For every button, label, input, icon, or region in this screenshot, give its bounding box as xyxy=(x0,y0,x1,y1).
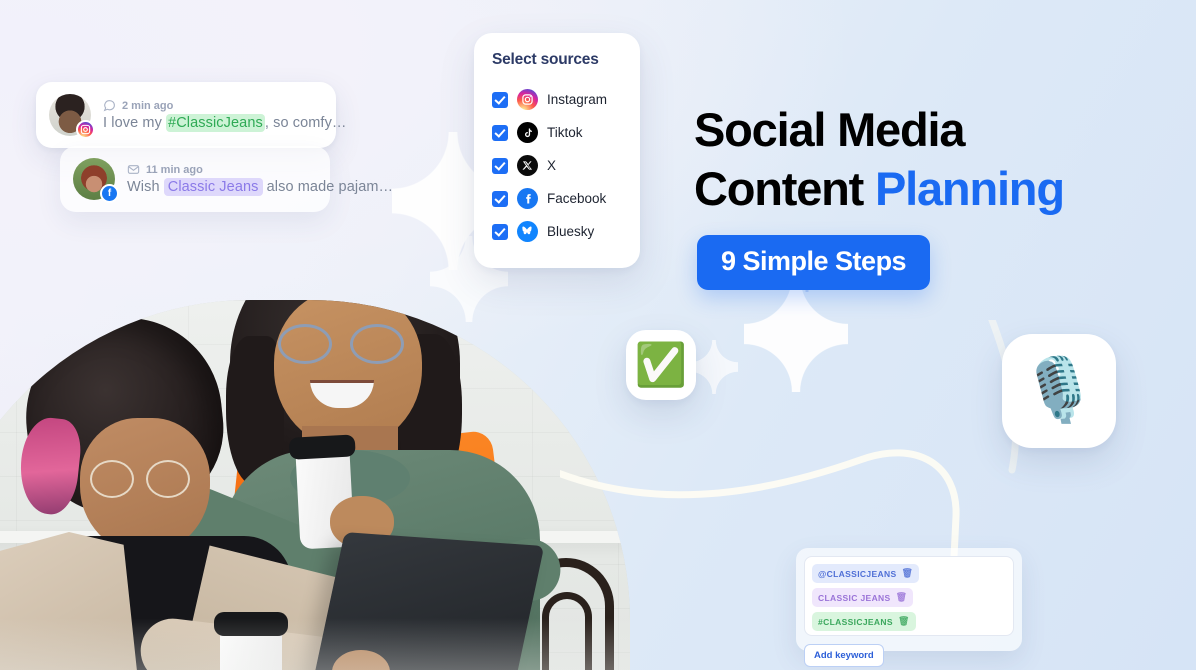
facebook-icon xyxy=(517,188,538,209)
source-label: Facebook xyxy=(547,191,606,206)
studio-microphone-emoji: 🎙️ xyxy=(1020,360,1097,422)
source-row-x[interactable]: X xyxy=(474,149,640,182)
bluesky-icon xyxy=(517,221,538,242)
select-sources-panel: Select sources Instagram Tiktok X xyxy=(474,33,640,268)
trash-icon[interactable]: 🗑 xyxy=(902,568,914,579)
hero-banner: 2 min ago I love my #ClassicJeans, so co… xyxy=(0,0,1196,670)
comment-meta: 2 min ago xyxy=(103,99,320,112)
source-row-tiktok[interactable]: Tiktok xyxy=(474,116,640,149)
keyword-label: #CLASSICJEANS xyxy=(818,617,893,627)
checkbox-bluesky[interactable] xyxy=(492,224,508,240)
source-row-facebook[interactable]: Facebook xyxy=(474,182,640,215)
comment-text: I love my #ClassicJeans, so comfy… xyxy=(103,115,320,131)
comment-card[interactable]: 2 min ago I love my #ClassicJeans, so co… xyxy=(36,82,336,148)
comment-timestamp: 2 min ago xyxy=(122,100,173,112)
x-icon xyxy=(517,155,538,176)
source-label: Instagram xyxy=(547,92,607,107)
title-line-1: Social Media xyxy=(694,100,1164,159)
comment-bubble-icon xyxy=(103,99,116,112)
keyword-label: @CLASSICJEANS xyxy=(818,569,897,579)
checkbox-tiktok[interactable] xyxy=(492,125,508,141)
page-title: Social Media Content Planning xyxy=(694,100,1164,218)
keyword-tag[interactable]: #CLASSICJEANS 🗑 xyxy=(812,612,916,631)
comment-card[interactable]: f 11 min ago Wish Classic Jeans also mad… xyxy=(60,146,330,212)
trash-icon[interactable]: 🗑 xyxy=(898,616,910,627)
instagram-icon xyxy=(517,89,538,110)
comment-highlight: #ClassicJeans xyxy=(166,114,265,132)
source-label: Tiktok xyxy=(547,125,583,140)
facebook-badge-icon: f xyxy=(100,184,119,203)
source-label: Bluesky xyxy=(547,224,594,239)
avatar xyxy=(49,94,91,136)
checkbox-x[interactable] xyxy=(492,158,508,174)
keyword-tag-list: @CLASSICJEANS 🗑 CLASSIC JEANS 🗑 #CLASSIC… xyxy=(804,556,1014,636)
checkbox-facebook[interactable] xyxy=(492,191,508,207)
comment-text: Wish Classic Jeans also made pajam… xyxy=(127,179,314,195)
white-heavy-check-mark-emoji: ✅ xyxy=(635,344,687,386)
keyword-label: CLASSIC JEANS xyxy=(818,593,891,603)
check-icon-card: ✅ xyxy=(626,330,696,400)
source-label: X xyxy=(547,158,556,173)
instagram-badge-icon xyxy=(76,120,95,139)
trash-icon[interactable]: 🗑 xyxy=(896,592,908,603)
title-line-2-black: Content xyxy=(694,162,875,215)
title-line-2-accent: Planning xyxy=(875,162,1064,215)
comment-timestamp: 11 min ago xyxy=(146,164,203,176)
microphone-icon-card: 🎙️ xyxy=(1002,334,1116,448)
envelope-icon xyxy=(127,163,140,176)
keywords-panel: @CLASSICJEANS 🗑 CLASSIC JEANS 🗑 #CLASSIC… xyxy=(796,548,1022,651)
steps-badge: 9 Simple Steps xyxy=(697,235,930,290)
tiktok-icon xyxy=(517,122,538,143)
comment-text-before: I love my xyxy=(103,115,166,131)
source-row-instagram[interactable]: Instagram xyxy=(474,83,640,116)
title-line-2: Content Planning xyxy=(694,159,1164,218)
comment-highlight: Classic Jeans xyxy=(164,178,263,196)
keyword-tag[interactable]: @CLASSICJEANS 🗑 xyxy=(812,564,919,583)
avatar: f xyxy=(73,158,115,200)
comment-text-after: also made pajam… xyxy=(263,179,394,195)
source-row-bluesky[interactable]: Bluesky xyxy=(474,215,640,248)
checkbox-instagram[interactable] xyxy=(492,92,508,108)
add-keyword-button[interactable]: Add keyword xyxy=(804,644,884,667)
hero-photo xyxy=(0,300,630,670)
panel-title: Select sources xyxy=(474,51,640,69)
comment-text-after: , so comfy… xyxy=(265,115,347,131)
keyword-tag[interactable]: CLASSIC JEANS 🗑 xyxy=(812,588,913,607)
comment-meta: 11 min ago xyxy=(127,163,314,176)
comment-text-before: Wish xyxy=(127,179,164,195)
